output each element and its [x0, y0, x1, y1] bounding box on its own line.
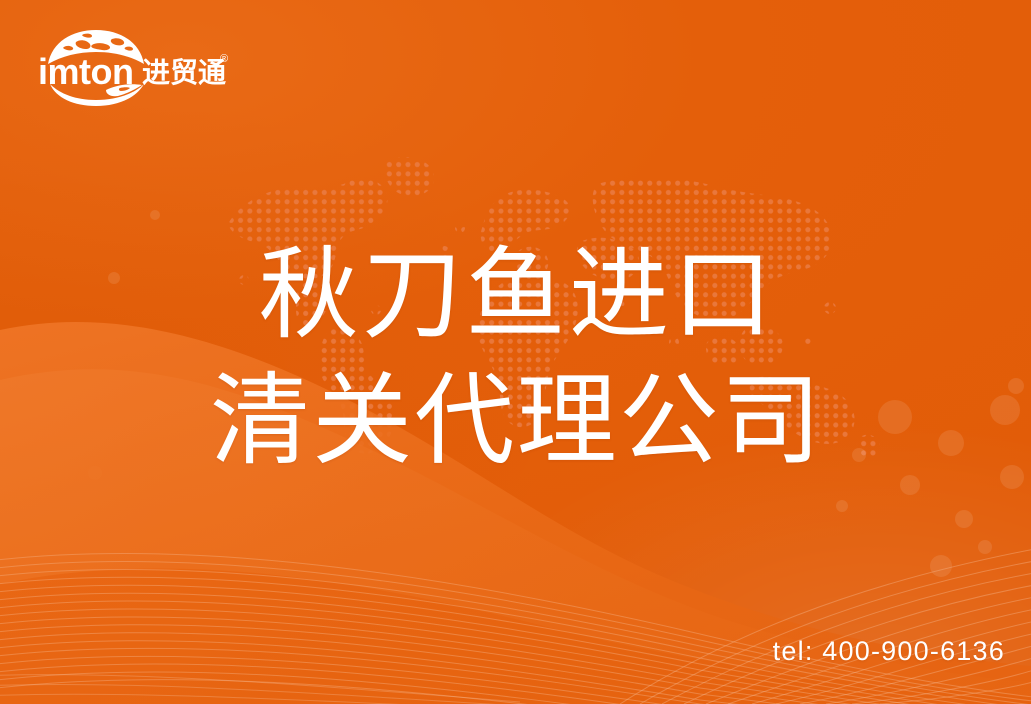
logo-latin-text: imton — [38, 51, 133, 92]
promo-banner: imton 进贸通 ® 秋刀鱼进口 清关代理公司 tel: 400-900-61… — [0, 0, 1031, 704]
headline-line-1: 秋刀鱼进口 — [0, 236, 1031, 354]
contact-phone[interactable]: tel: 400-900-6136 — [773, 636, 1005, 667]
logo-chinese-text: 进贸通 — [142, 57, 226, 88]
registered-mark: ® — [220, 53, 228, 65]
headline-line-2: 清关代理公司 — [0, 362, 1031, 480]
page-title: 秋刀鱼进口 清关代理公司 — [0, 236, 1031, 480]
logo-mark: imton 进贸通 ® — [34, 28, 234, 106]
brand-logo[interactable]: imton 进贸通 ® — [34, 28, 234, 106]
